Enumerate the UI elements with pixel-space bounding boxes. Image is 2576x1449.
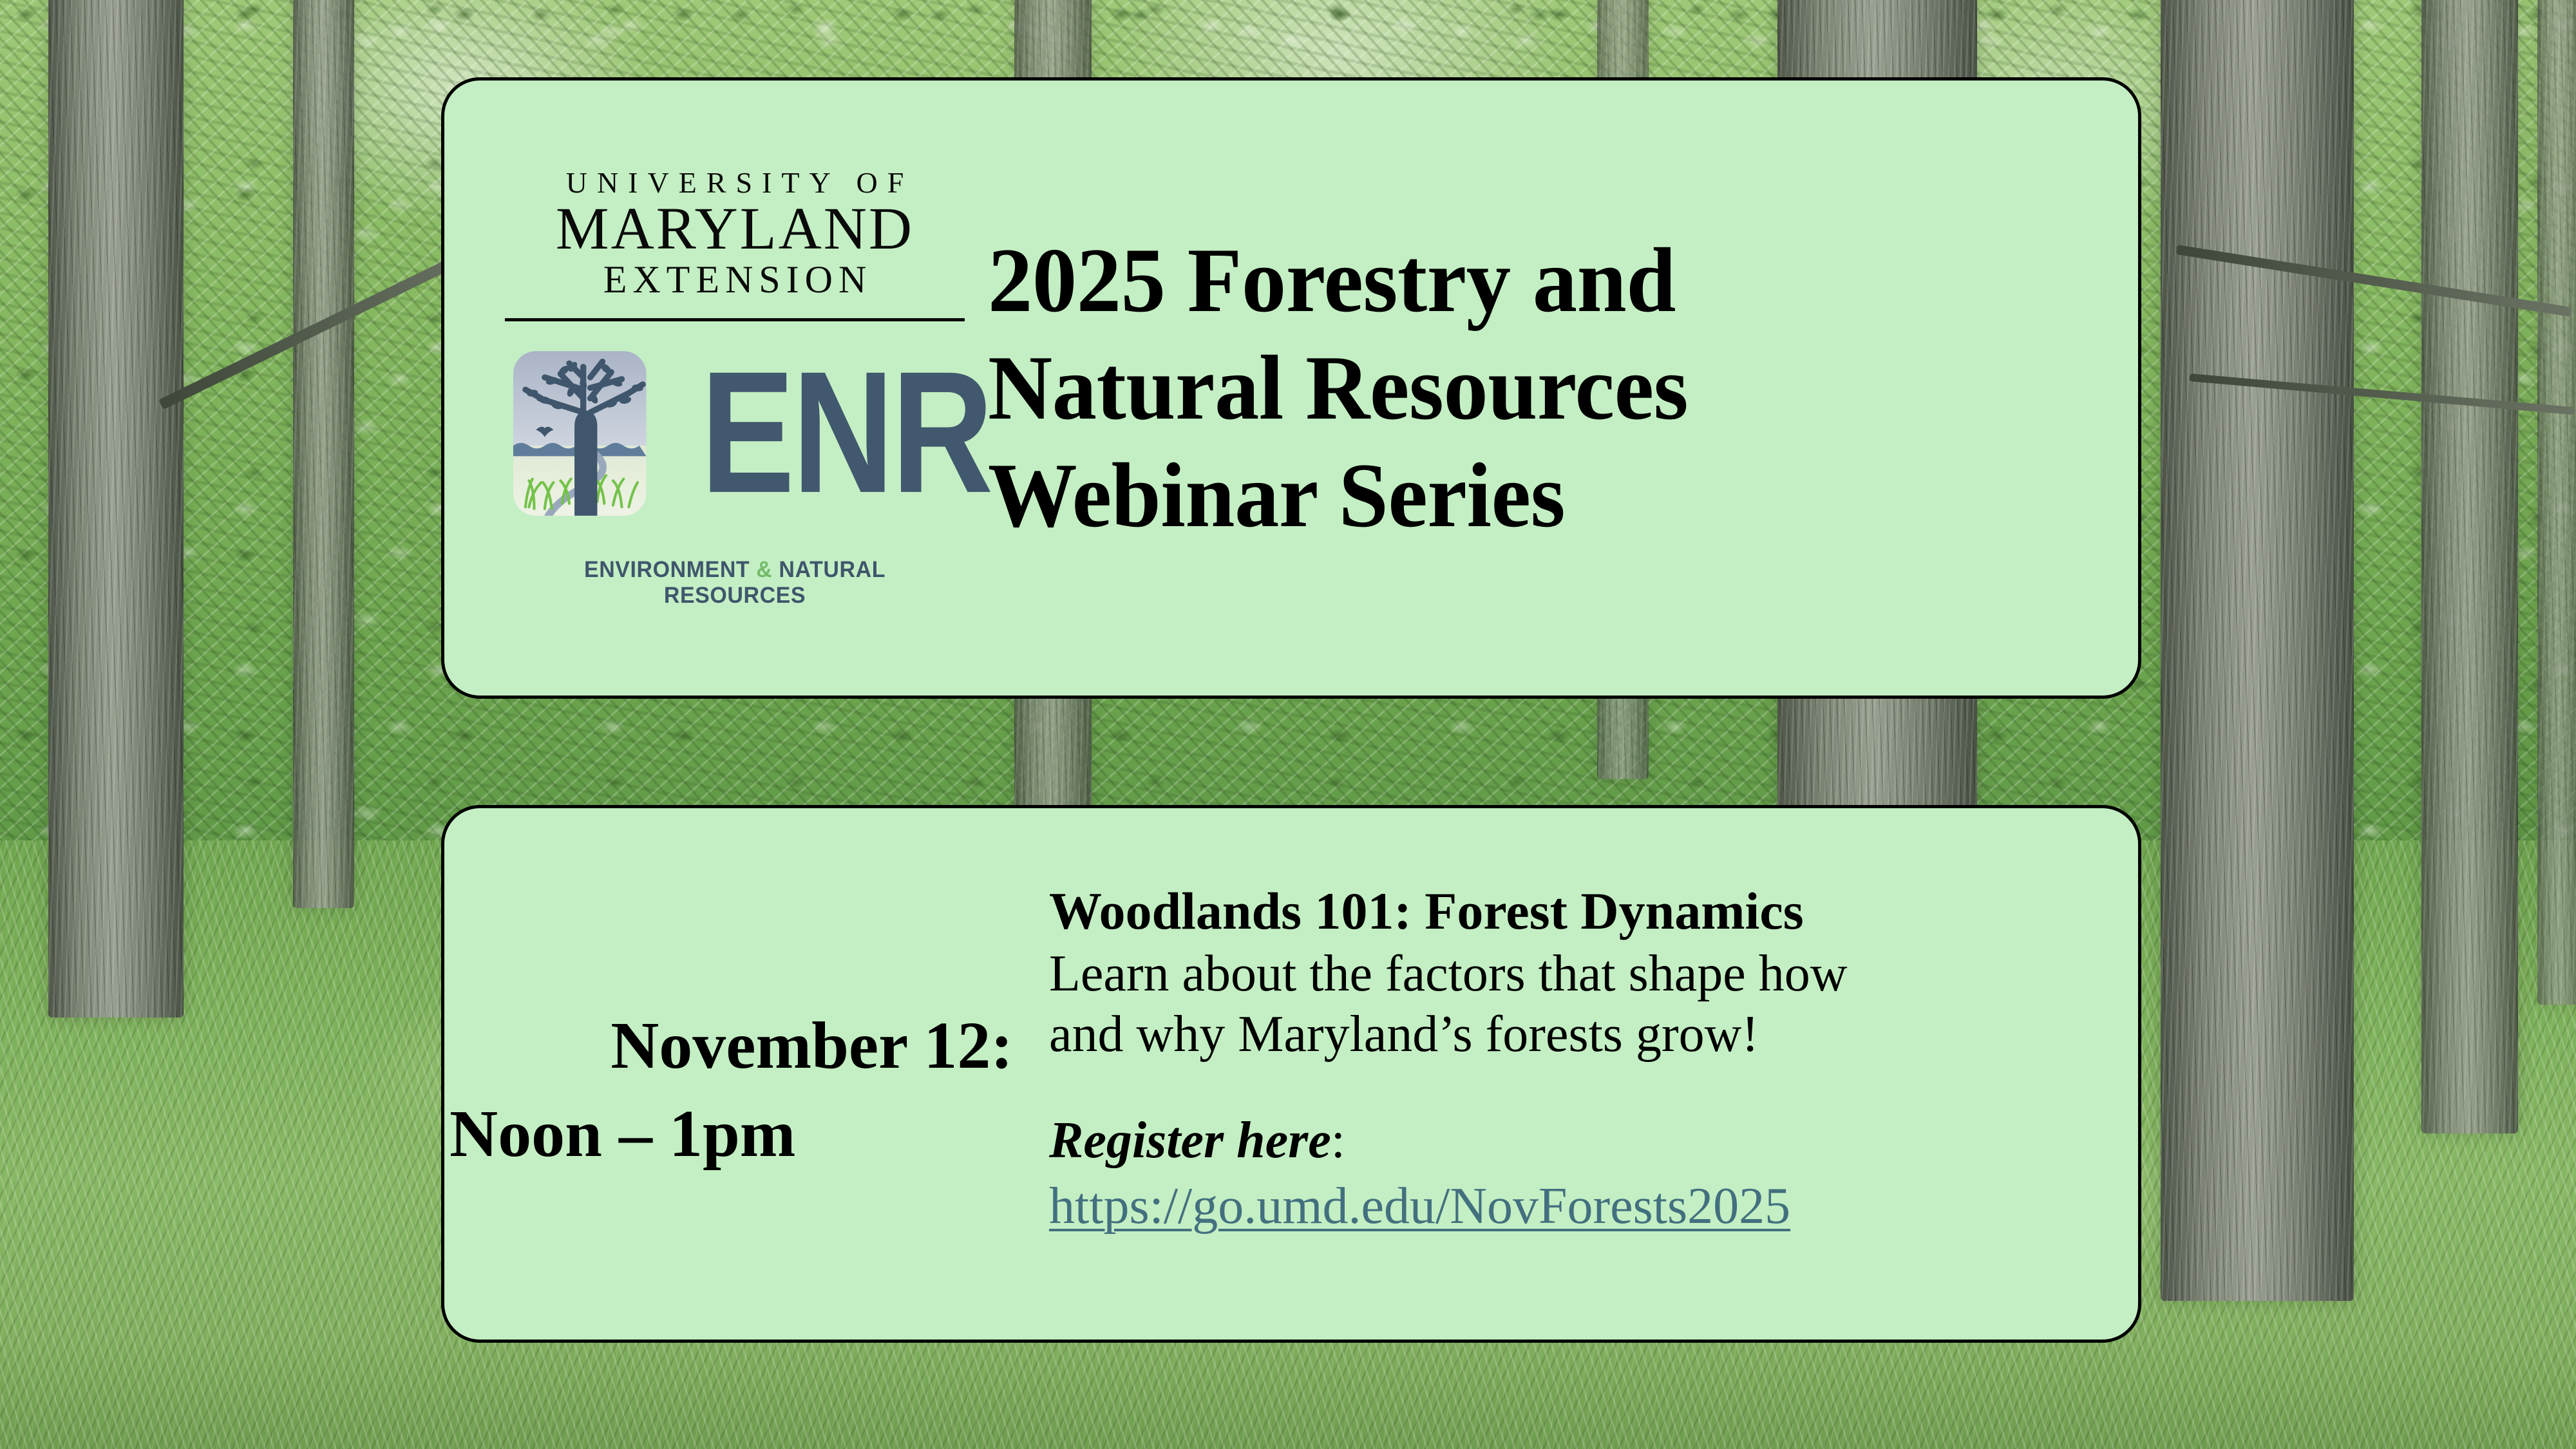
tree-trunk [2537, 0, 2576, 1005]
enr-tagline: ENVIRONMENT & NATURAL RESOURCES [511, 557, 959, 609]
flyer-title-block: 2025 Forestry and Natural Resources Webi… [966, 227, 2138, 550]
register-colon: : [1331, 1112, 1345, 1169]
umd-extension-text: EXTENSION [504, 260, 966, 299]
enr-tagline-ampersand: & [756, 557, 772, 582]
logo-divider-rule [505, 318, 965, 321]
register-here-label: Register here [1049, 1112, 1331, 1169]
event-details-card: November 12: Noon – 1pm Woodlands 101: F… [441, 805, 2141, 1343]
title-line-2: Natural Resources [988, 334, 2060, 442]
umd-maryland-text: MARYLAND [504, 199, 966, 259]
session-description-line-2: and why Maryland’s forests grow! [1049, 1005, 2099, 1065]
session-description-line-1: Learn about the factors that shape how [1049, 944, 2099, 1005]
event-time: Noon – 1pm [444, 1090, 1013, 1178]
tree-trunk [2421, 0, 2518, 1133]
session-details-block: Woodlands 101: Forest Dynamics Learn abo… [1034, 808, 2138, 1235]
flyer-canvas: UNIVERSITY OF MARYLAND EXTENSION [0, 0, 2576, 1449]
session-title: Woodlands 101: Forest Dynamics [1049, 882, 2099, 940]
registration-link[interactable]: https://go.umd.edu/NovForests2025 [1049, 1178, 1790, 1235]
session-description: Learn about the factors that shape how a… [1049, 944, 2099, 1065]
tree-trunk [48, 0, 184, 1018]
umd-extension-logo: UNIVERSITY OF MARYLAND EXTENSION [444, 168, 966, 609]
register-label-row: Register here: [1049, 1112, 2099, 1169]
tree-trunk [293, 0, 354, 908]
tree-trunk [2161, 0, 2354, 1301]
event-date: November 12: [444, 1001, 1013, 1090]
enr-tagline-environment: ENVIRONMENT [584, 557, 750, 582]
umd-wordmark: UNIVERSITY OF MARYLAND EXTENSION [504, 168, 966, 299]
registration-block: Register here: https://go.umd.edu/NovFor… [1049, 1112, 2099, 1235]
title-line-3: Webinar Series [988, 442, 2060, 549]
event-datetime-block: November 12: Noon – 1pm [444, 808, 1034, 1179]
umd-university-of-text: UNIVERSITY OF [504, 168, 966, 198]
title-line-1: 2025 Forestry and [988, 227, 2060, 334]
tree-landscape-icon [506, 346, 681, 521]
page-title: 2025 Forestry and Natural Resources Webi… [988, 227, 2060, 550]
header-card: UNIVERSITY OF MARYLAND EXTENSION [441, 77, 2141, 699]
enr-initials: ENR [701, 366, 991, 501]
